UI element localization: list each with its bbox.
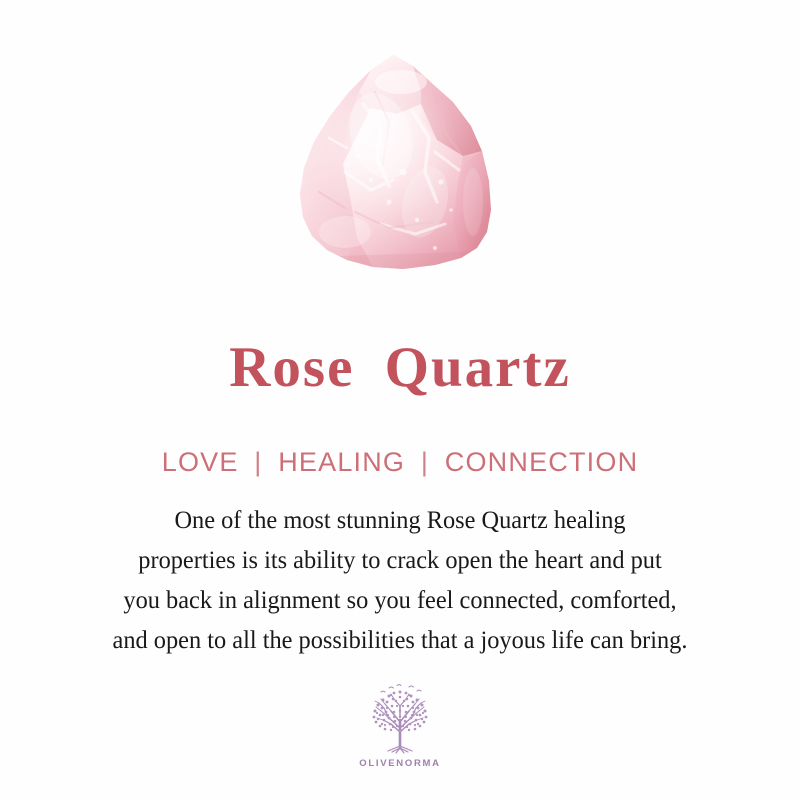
description-line: properties is its ability to crack open … <box>18 540 782 580</box>
description-line: One of the most stunning Rose Quartz hea… <box>18 500 782 540</box>
description-paragraph: One of the most stunning Rose Quartz hea… <box>18 500 782 660</box>
keyword-connection: CONNECTION <box>445 447 639 477</box>
description-line: you back in alignment so you feel connec… <box>18 580 782 620</box>
keyword-love: LOVE <box>162 447 239 477</box>
brand-logo: OLIVENORMA <box>335 684 465 769</box>
brand-wordmark: OLIVENORMA <box>335 758 465 769</box>
hero-image-area <box>0 0 800 320</box>
crystal-body <box>285 52 515 287</box>
tree-of-life-icon <box>361 684 439 756</box>
keyword-separator-1: | <box>247 447 269 477</box>
page-title: Rose Quartz <box>0 336 800 400</box>
rose-quartz-crystal-image <box>285 52 515 287</box>
rose-quartz-info-card: Rose Quartz LOVE | HEALING | CONNECTION … <box>0 0 800 800</box>
keyword-tagline: LOVE | HEALING | CONNECTION <box>0 446 800 478</box>
description-line: and open to all the possibilities that a… <box>18 620 782 660</box>
keyword-healing: HEALING <box>278 447 405 477</box>
keyword-separator-2: | <box>414 447 436 477</box>
